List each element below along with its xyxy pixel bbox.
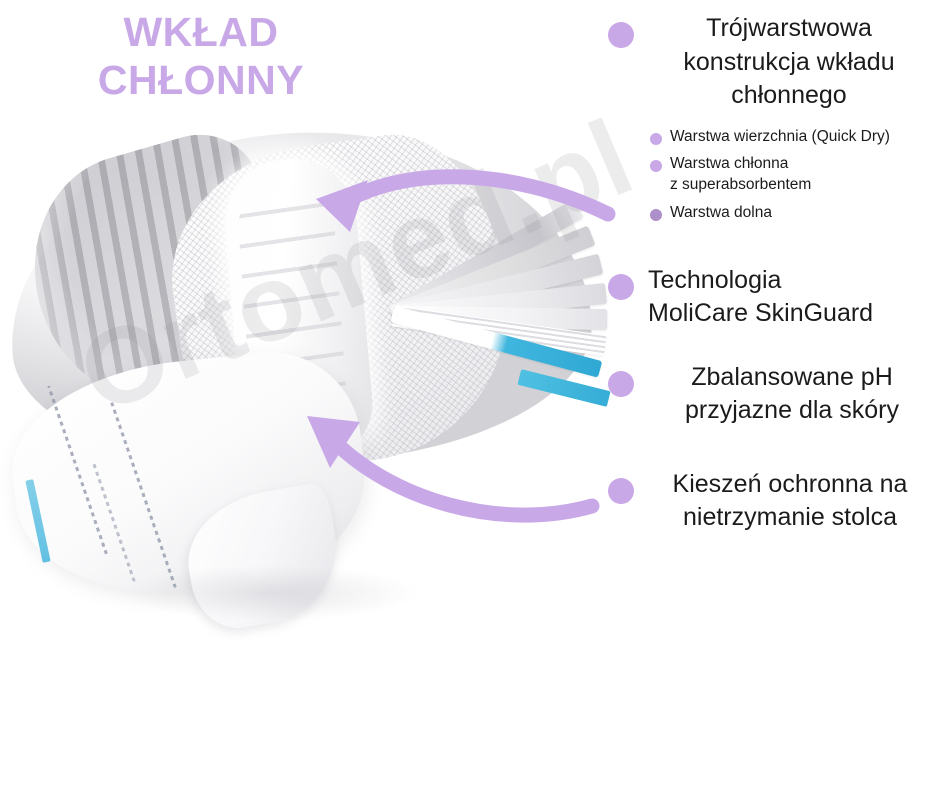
bullet-dot-icon xyxy=(608,274,634,300)
feature-item-trojwarstwowa-konstrukcja[interactable]: Trójwarstwowa konstrukcja wkładu chłonne… xyxy=(608,12,940,113)
feature-label: Zbalansowane pH przyjazne dla skóry xyxy=(644,361,940,428)
feature-label: Trójwarstwowa konstrukcja wkładu chłonne… xyxy=(638,12,940,113)
sub-bullet-dot-icon xyxy=(650,133,662,145)
page-title: WKŁAD CHŁONNY xyxy=(46,8,356,105)
bullet-dot-icon xyxy=(608,22,634,48)
product-illustration xyxy=(0,125,620,595)
bullet-dot-icon xyxy=(608,478,634,504)
sublist-item-label: Warstwa dolna xyxy=(670,203,772,224)
product-shadow xyxy=(120,565,420,621)
feature-item-kieszen-ochronna[interactable]: Kieszeń ochronna na nietrzymanie stolca xyxy=(608,468,940,535)
feature-sublist-warstwy: Warstwa wierzchnia (Quick Dry) Warstwa c… xyxy=(650,127,940,224)
feature-label: Kieszeń ochronna na nietrzymanie stolca xyxy=(640,468,940,535)
sublist-item-warstwa-dolna[interactable]: Warstwa dolna xyxy=(650,203,940,224)
product-image xyxy=(0,125,620,595)
sublist-item-label: Warstwa wierzchnia (Quick Dry) xyxy=(670,127,890,148)
feature-label: Technologia MoliCare SkinGuard xyxy=(648,264,940,331)
feature-item-technologia-skinguard[interactable]: Technologia MoliCare SkinGuard xyxy=(608,264,940,331)
feature-list: Trójwarstwowa konstrukcja wkładu chłonne… xyxy=(608,0,940,535)
sublist-item-warstwa-chlonna[interactable]: Warstwa chłonna z superabsorbentem xyxy=(650,154,940,196)
feature-item-zbalansowane-ph[interactable]: Zbalansowane pH przyjazne dla skóry xyxy=(608,361,940,428)
sublist-item-warstwa-wierzchnia[interactable]: Warstwa wierzchnia (Quick Dry) xyxy=(650,127,940,148)
sublist-item-label: Warstwa chłonna z superabsorbentem xyxy=(670,154,811,196)
sub-bullet-dot-icon xyxy=(650,160,662,172)
layered-strips-fan xyxy=(384,202,620,447)
bullet-dot-icon xyxy=(608,371,634,397)
sub-bullet-dot-icon xyxy=(650,209,662,221)
